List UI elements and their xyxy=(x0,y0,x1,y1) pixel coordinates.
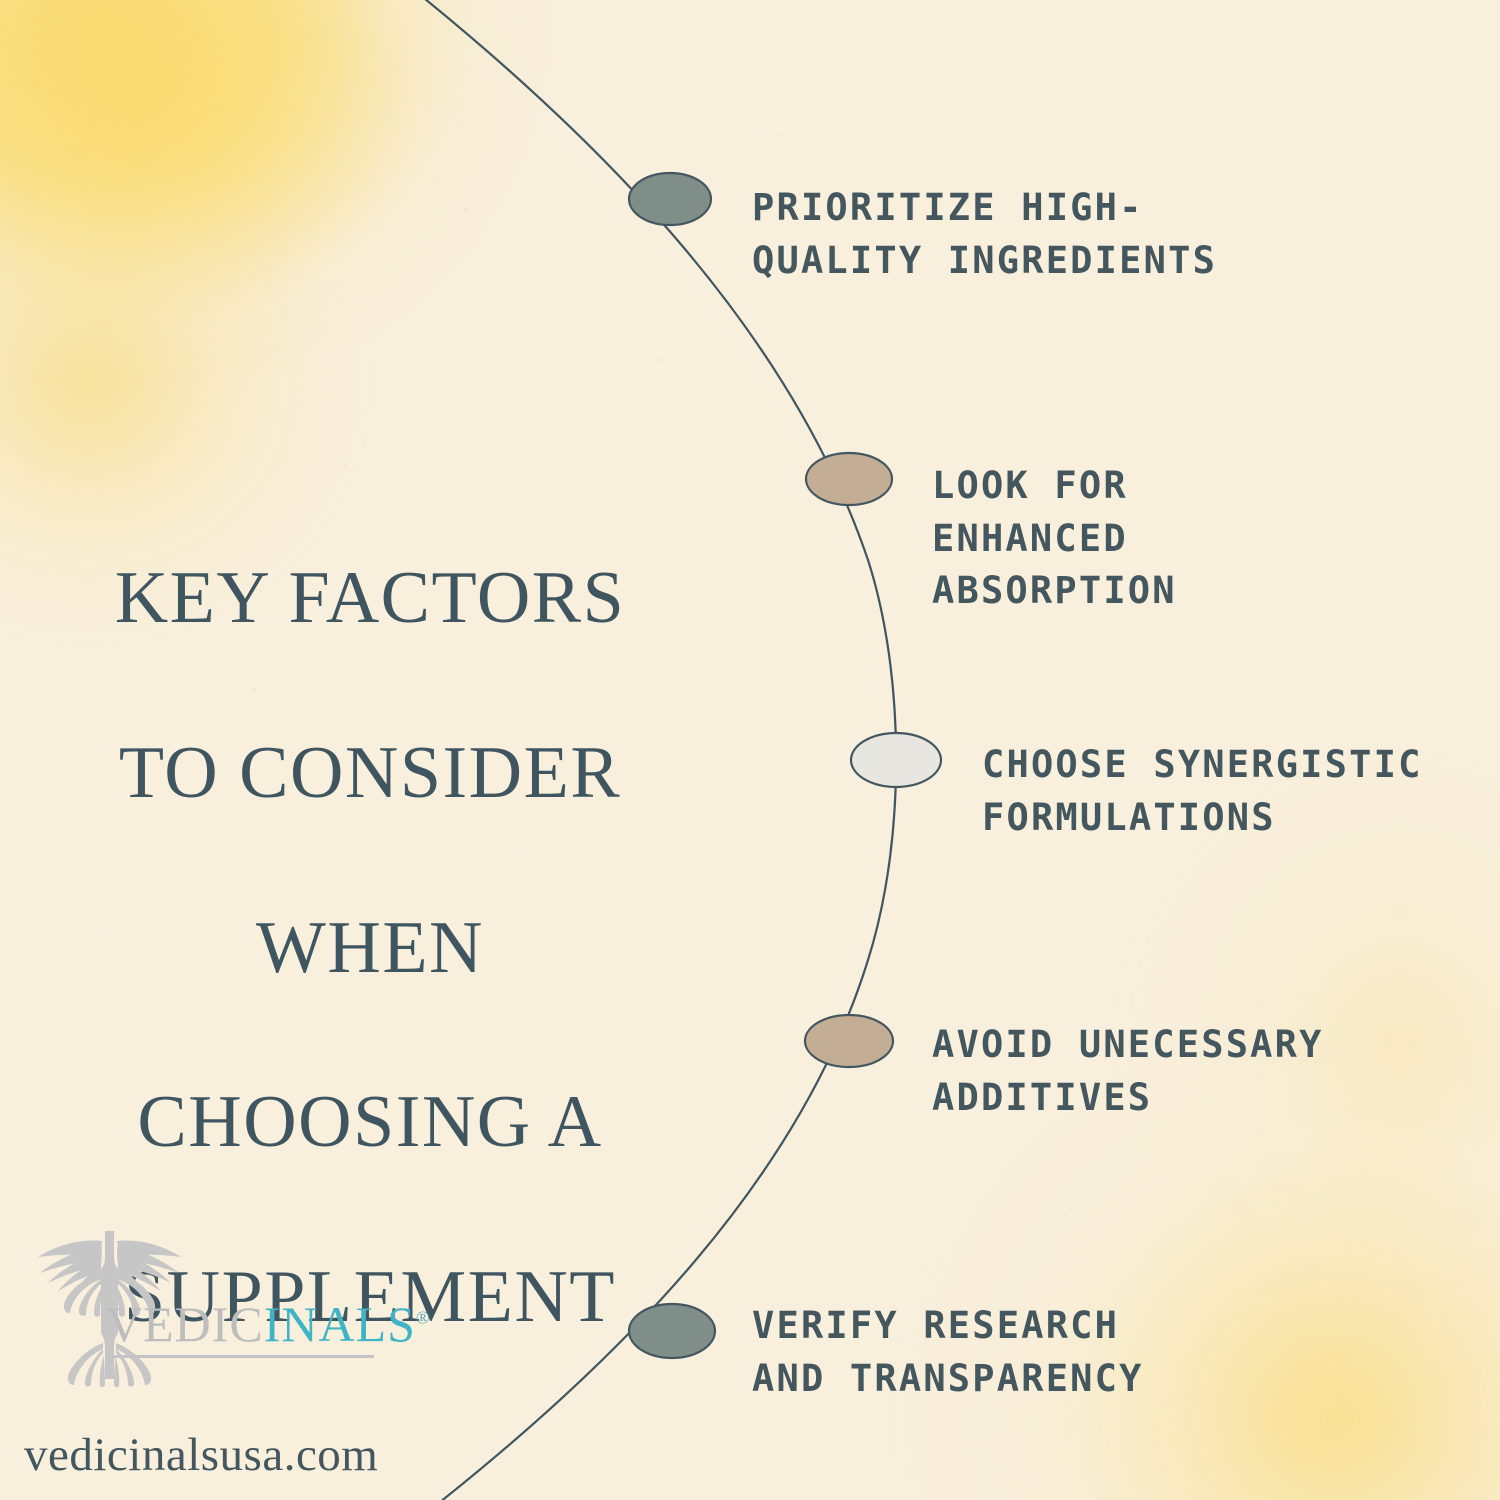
step-label-1: PRIORITIZE HIGH- QUALITY INGREDIENTS xyxy=(752,182,1217,287)
timeline-node-4[interactable] xyxy=(805,1015,893,1067)
timeline-node-2[interactable] xyxy=(806,453,892,505)
title-line-1: KEY FACTORS xyxy=(40,555,700,642)
registered-trademark-icon: ® xyxy=(416,1307,431,1327)
title-line-2: TO CONSIDER xyxy=(40,730,700,817)
logo-underline-rule xyxy=(112,1355,374,1358)
poster-canvas: KEY FACTORS TO CONSIDER WHEN CHOOSING A … xyxy=(0,0,1500,1500)
timeline-node-3[interactable] xyxy=(851,733,941,787)
logo-word-part-2: INALS xyxy=(264,1296,416,1352)
title-line-3: WHEN xyxy=(40,905,700,992)
step-label-3: CHOOSE SYNERGISTIC FORMULATIONS xyxy=(982,739,1423,844)
timeline-node-1[interactable] xyxy=(629,173,711,225)
logo-word-part-1: VEDIC xyxy=(106,1296,264,1352)
step-label-2: LOOK FOR ENHANCED ABSORPTION xyxy=(932,460,1177,618)
title-line-4: CHOOSING A xyxy=(40,1079,700,1166)
brand-logo[interactable]: VEDICINALS® xyxy=(22,1227,402,1392)
step-label-4: AVOID UNECESSARY ADDITIVES xyxy=(932,1019,1324,1124)
step-label-5: VERIFY RESEARCH AND TRANSPARENCY xyxy=(752,1300,1144,1405)
website-url[interactable]: vedicinalsusa.com xyxy=(24,1428,378,1482)
logo-wordmark: VEDICINALS® xyxy=(106,1299,431,1349)
